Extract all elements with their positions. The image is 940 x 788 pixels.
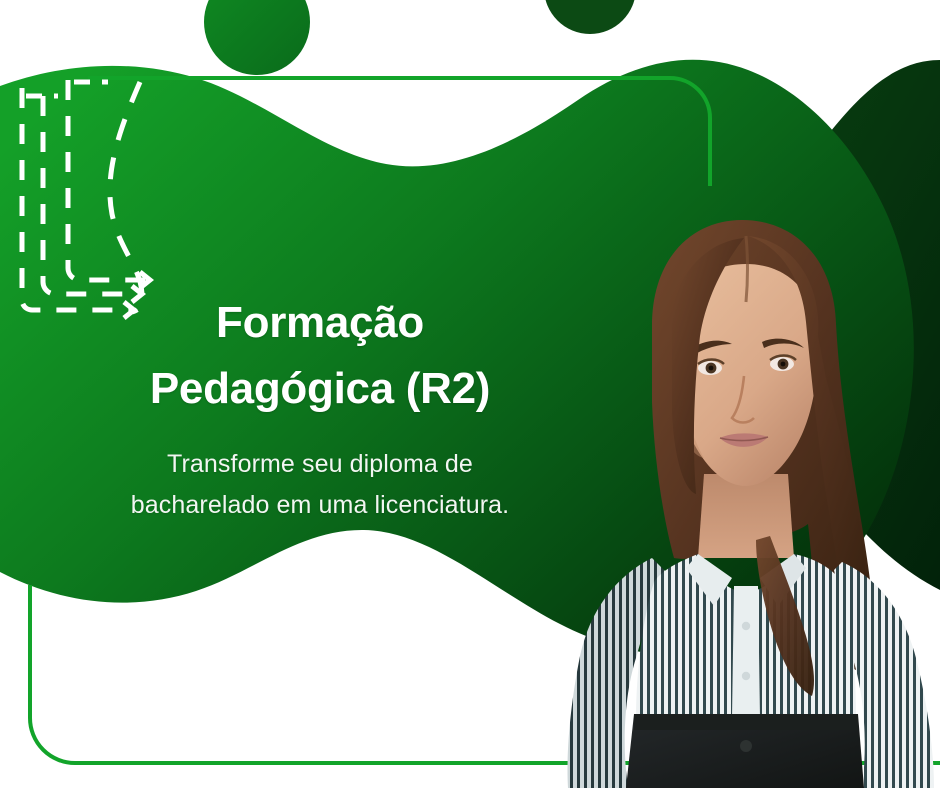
dashed-frame-3 (68, 80, 148, 280)
waistband (634, 714, 858, 730)
page-title-line-2: Pedagógica (R2) (80, 356, 560, 422)
neck (698, 474, 794, 558)
pupil-left (709, 366, 714, 371)
accent-outline-top (88, 78, 710, 186)
banner-copy: Formação Pedagógica (R2) Transforme seu … (80, 290, 560, 526)
hair-part-highlight (746, 236, 748, 302)
presenter-illustration (556, 206, 940, 788)
dashed-frame-1 (22, 88, 132, 310)
page-subtitle-line-1: Transforme seu diploma de (80, 444, 560, 485)
promo-banner: Formação Pedagógica (R2) Transforme seu … (0, 0, 940, 788)
pupil-right (781, 362, 786, 367)
shirt-placket (732, 586, 760, 718)
dashed-frame-group (22, 80, 150, 318)
shirt-button-2 (742, 672, 750, 680)
page-subtitle-line-2: bacharelado em uma licenciatura. (80, 485, 560, 526)
trouser-button (740, 740, 752, 752)
dashed-frame-2 (43, 96, 140, 294)
shirt-button-1 (742, 622, 750, 630)
presenter-photo (556, 206, 940, 788)
page-title-line-1: Formação (80, 290, 560, 356)
